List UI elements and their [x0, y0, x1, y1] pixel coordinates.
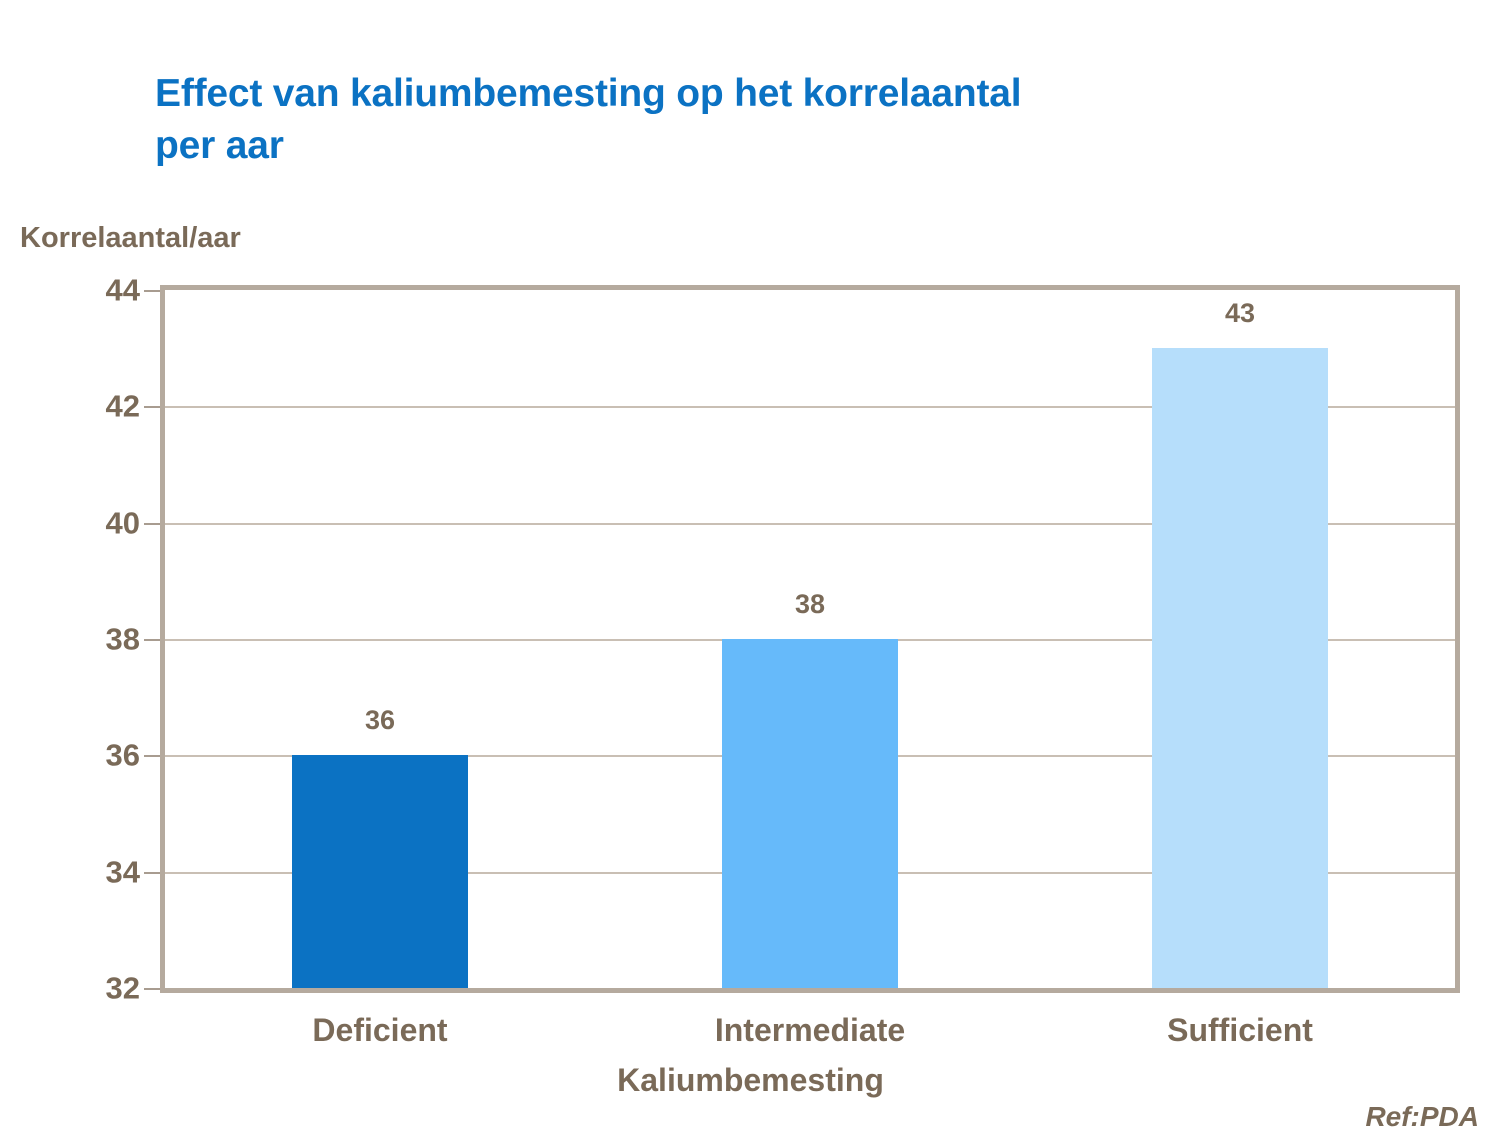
y-tick-mark [144, 523, 160, 525]
reference-note: Ref:PDA [1365, 1101, 1479, 1133]
bar-sufficient[interactable] [1152, 348, 1328, 988]
y-tick-mark [144, 988, 160, 990]
y-tick-label: 32 [20, 973, 140, 1004]
x-axis-title: Kaliumbemesting [0, 1062, 1501, 1099]
bar-value-label: 43 [1225, 300, 1255, 327]
chart-title: Effect van kaliumbemesting op het korrel… [155, 68, 1355, 172]
bar-value-label: 38 [795, 591, 825, 618]
y-tick-mark [144, 755, 160, 757]
y-tick-label: 42 [20, 391, 140, 422]
bar-intermediate[interactable] [722, 639, 898, 988]
category-label-intermediate: Intermediate [715, 1012, 905, 1049]
y-tick-label: 38 [20, 624, 140, 655]
y-tick-mark [144, 406, 160, 408]
y-tick-mark [144, 290, 160, 292]
y-tick-label: 34 [20, 856, 140, 887]
y-tick-mark [144, 639, 160, 641]
y-tick-mark [144, 872, 160, 874]
bar-deficient[interactable] [292, 755, 468, 988]
y-tick-label: 44 [20, 275, 140, 306]
category-label-deficient: Deficient [312, 1012, 447, 1049]
bar-value-label: 36 [365, 707, 395, 734]
category-label-sufficient: Sufficient [1167, 1012, 1313, 1049]
y-tick-label: 36 [20, 740, 140, 771]
y-axis-title: Korrelaantal/aar [20, 222, 241, 255]
plot-area [160, 285, 1460, 993]
y-tick-label: 40 [20, 507, 140, 538]
